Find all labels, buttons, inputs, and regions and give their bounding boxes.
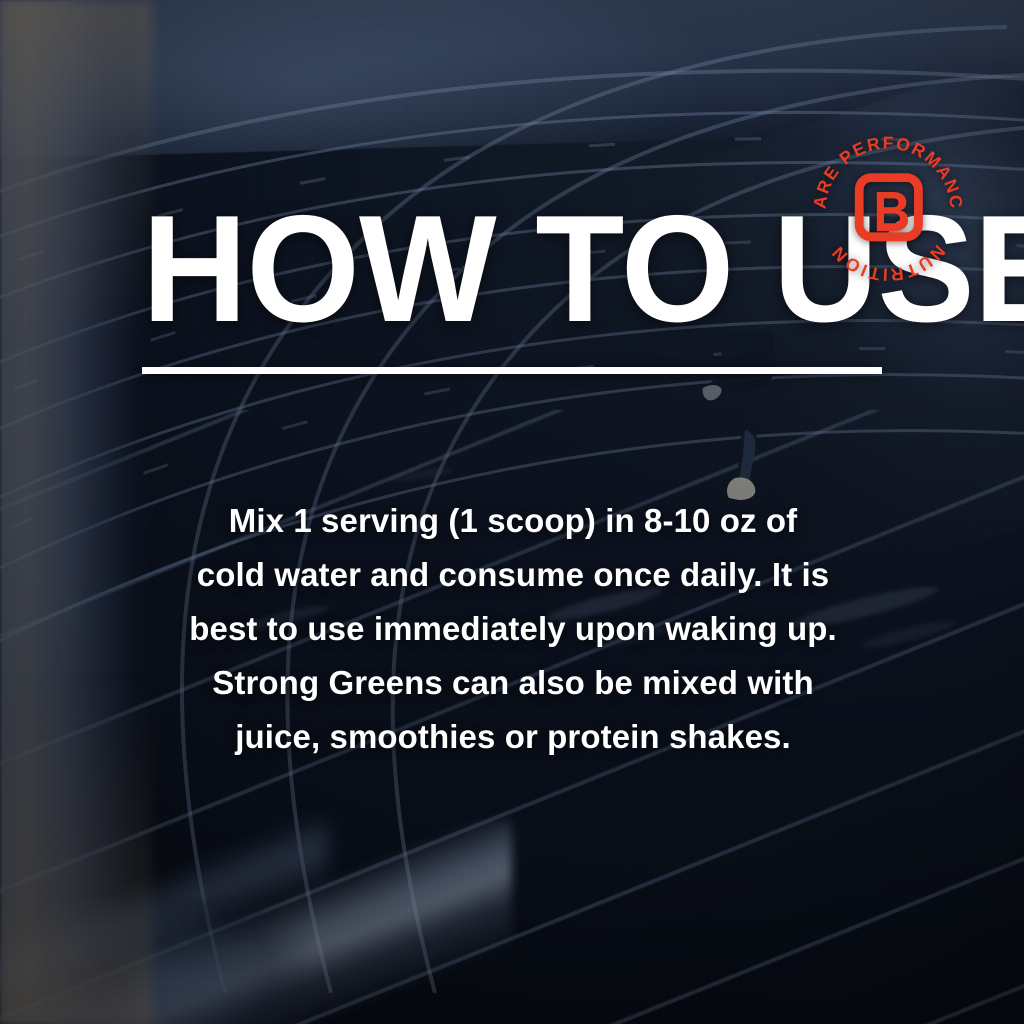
instruction-line: cold water and consume once daily. It is [142,548,884,602]
bpn-logo-badge: BARE PERFORMANCE NUTRITION [808,128,968,288]
instruction-line: Strong Greens can also be mixed with [142,656,884,710]
instruction-line: Mix 1 serving (1 scoop) in 8-10 oz of [142,494,884,548]
instructions-text: Mix 1 serving (1 scoop) in 8-10 oz of co… [142,494,884,764]
instruction-line: best to use immediately upon waking up. [142,602,884,656]
bpn-monogram-mark [859,178,918,237]
logo-arc-bottom-text: NUTRITION [827,241,950,285]
title-divider-rule [142,367,882,374]
page-title: HOW TO USE [142,200,854,340]
content-layer: HOW TO USE Mix 1 serving (1 scoop) in 8-… [0,0,1024,1024]
promo-graphic: HOW TO USE Mix 1 serving (1 scoop) in 8-… [0,0,1024,1024]
instruction-line: juice, smoothies or protein shakes. [142,710,884,764]
